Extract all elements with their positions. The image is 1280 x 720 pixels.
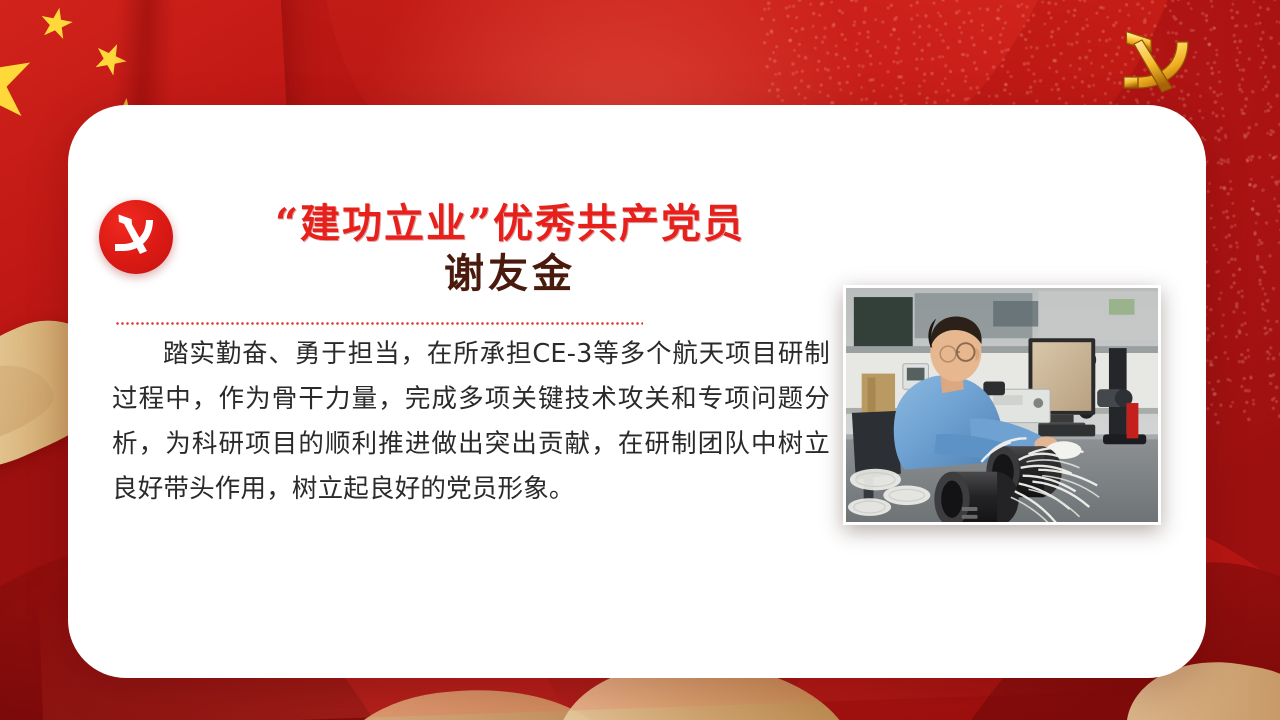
hammer-sickle-gold-icon: [1106, 28, 1202, 102]
description-paragraph: 踏实勤奋、勇于担当，在所承担CE-3等多个航天项目研制过程中，作为骨干力量，完成…: [112, 332, 830, 512]
flag-star-small-1-icon: [37, 5, 76, 44]
dotted-divider: [115, 322, 643, 325]
person-photo: [843, 285, 1161, 525]
title-block: “建功立业”优秀共产党员 谢友金: [185, 200, 835, 297]
flag-star-large-icon: [0, 30, 41, 135]
party-emblem-badge: [99, 200, 173, 274]
person-name: 谢友金: [185, 251, 835, 297]
hammer-sickle-white-icon: [112, 213, 160, 261]
page-title: “建功立业”优秀共产党员: [185, 200, 835, 247]
slide-root: “建功立业”优秀共产党员 谢友金 踏实勤奋、勇于担当，在所承担CE-3等多个航天…: [0, 0, 1280, 720]
